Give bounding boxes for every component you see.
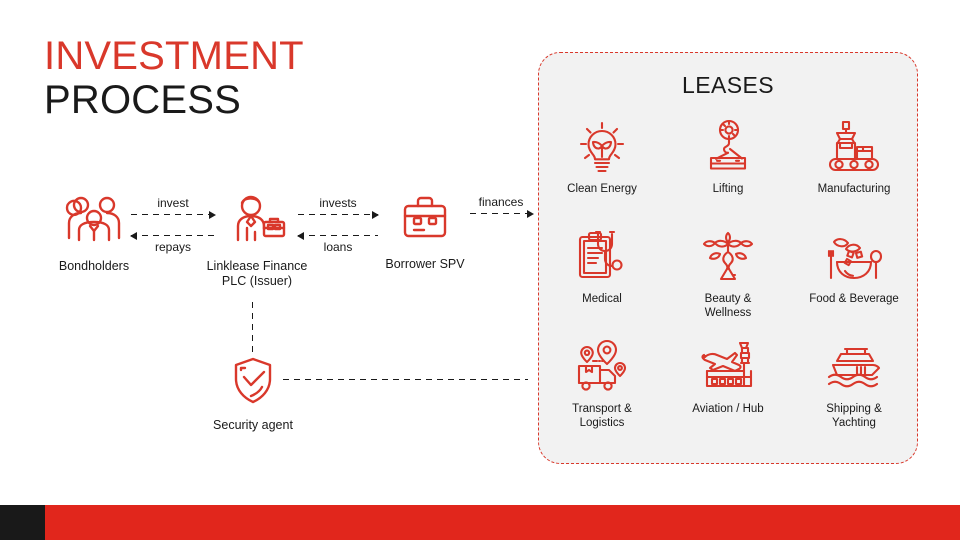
lease-item-label: Manufacturing xyxy=(818,182,891,196)
arrow-finances xyxy=(470,213,533,214)
connector-issuer-security-agent xyxy=(252,302,253,352)
slide-canvas: INVESTMENT PROCESS Bondholders xyxy=(0,0,960,540)
woman-plant-icon xyxy=(700,229,756,285)
arrow-repays xyxy=(131,235,215,236)
page-title-line-1: INVESTMENT xyxy=(44,34,304,78)
lease-item-label: Shipping & Yachting xyxy=(826,402,882,430)
lease-item-clean-energy[interactable]: Clean Energy xyxy=(539,113,665,223)
flow-node-label: Linklease Finance PLC (Issuer) xyxy=(185,259,329,289)
arrow-pair-issuer-spv: invests loans xyxy=(298,196,378,254)
lease-item-shipping-yachting[interactable]: Shipping & Yachting xyxy=(791,333,917,443)
yacht-waves-icon xyxy=(823,339,885,395)
flow-node-label: Borrower SPV xyxy=(355,257,495,272)
arrow-label-invests: invests xyxy=(298,196,378,210)
lightbulb-leaf-icon xyxy=(575,119,629,175)
conveyor-robot-arm-icon xyxy=(823,119,885,175)
arrow-head-right-icon xyxy=(209,211,216,219)
lease-item-label: Clean Energy xyxy=(567,182,637,196)
arrow-head-left-icon xyxy=(297,232,304,240)
lease-item-medical[interactable]: Medical xyxy=(539,223,665,333)
flow-node-label: Security agent xyxy=(185,418,321,433)
arrow-invests xyxy=(298,214,378,215)
lease-item-label: Food & Beverage xyxy=(809,292,899,306)
lease-item-label: Beauty & Wellness xyxy=(705,292,752,320)
leases-grid: Clean Energy xyxy=(539,113,917,443)
shield-check-icon xyxy=(185,355,321,412)
lease-item-transport-logistics[interactable]: Transport & Logistics xyxy=(539,333,665,443)
footer-bar-red xyxy=(45,505,960,540)
page-title: INVESTMENT PROCESS xyxy=(44,34,304,122)
airplane-control-tower-icon xyxy=(697,339,759,395)
lease-item-beauty-wellness[interactable]: Beauty & Wellness xyxy=(665,223,791,333)
delivery-truck-pins-icon xyxy=(571,339,633,395)
arrow-label-repays: repays xyxy=(131,240,215,254)
salad-bowl-fork-spoon-icon xyxy=(823,229,885,285)
arrow-invest xyxy=(131,214,215,215)
arrow-head-right-icon xyxy=(527,210,534,218)
crane-hook-icon xyxy=(700,119,756,175)
lease-item-label: Transport & Logistics xyxy=(572,402,632,430)
arrow-label-invest: invest xyxy=(131,196,215,210)
connector-security-agent-leases xyxy=(283,379,528,380)
clipboard-stethoscope-icon xyxy=(574,229,630,285)
arrow-label-finances: finances xyxy=(466,195,536,209)
leases-panel: LEASES xyxy=(538,52,918,464)
lease-item-label: Medical xyxy=(582,292,622,306)
lease-item-lifting[interactable]: Lifting xyxy=(665,113,791,223)
lease-item-aviation-hub[interactable]: Aviation / Hub xyxy=(665,333,791,443)
leases-panel-title: LEASES xyxy=(539,72,917,99)
arrow-head-left-icon xyxy=(130,232,137,240)
lease-item-label: Lifting xyxy=(713,182,744,196)
page-title-line-2: PROCESS xyxy=(44,78,304,122)
footer-bar-black xyxy=(0,505,45,540)
lease-item-label: Aviation / Hub xyxy=(692,402,763,416)
arrow-head-right-icon xyxy=(372,211,379,219)
arrow-loans xyxy=(298,235,378,236)
flow-node-label: Bondholders xyxy=(20,259,168,274)
lease-item-food-beverage[interactable]: Food & Beverage xyxy=(791,223,917,333)
flow-node-security-agent: Security agent xyxy=(185,355,321,433)
arrow-pair-bondholders-issuer: invest repays xyxy=(131,196,215,254)
lease-item-manufacturing[interactable]: Manufacturing xyxy=(791,113,917,223)
arrow-label-loans: loans xyxy=(298,240,378,254)
